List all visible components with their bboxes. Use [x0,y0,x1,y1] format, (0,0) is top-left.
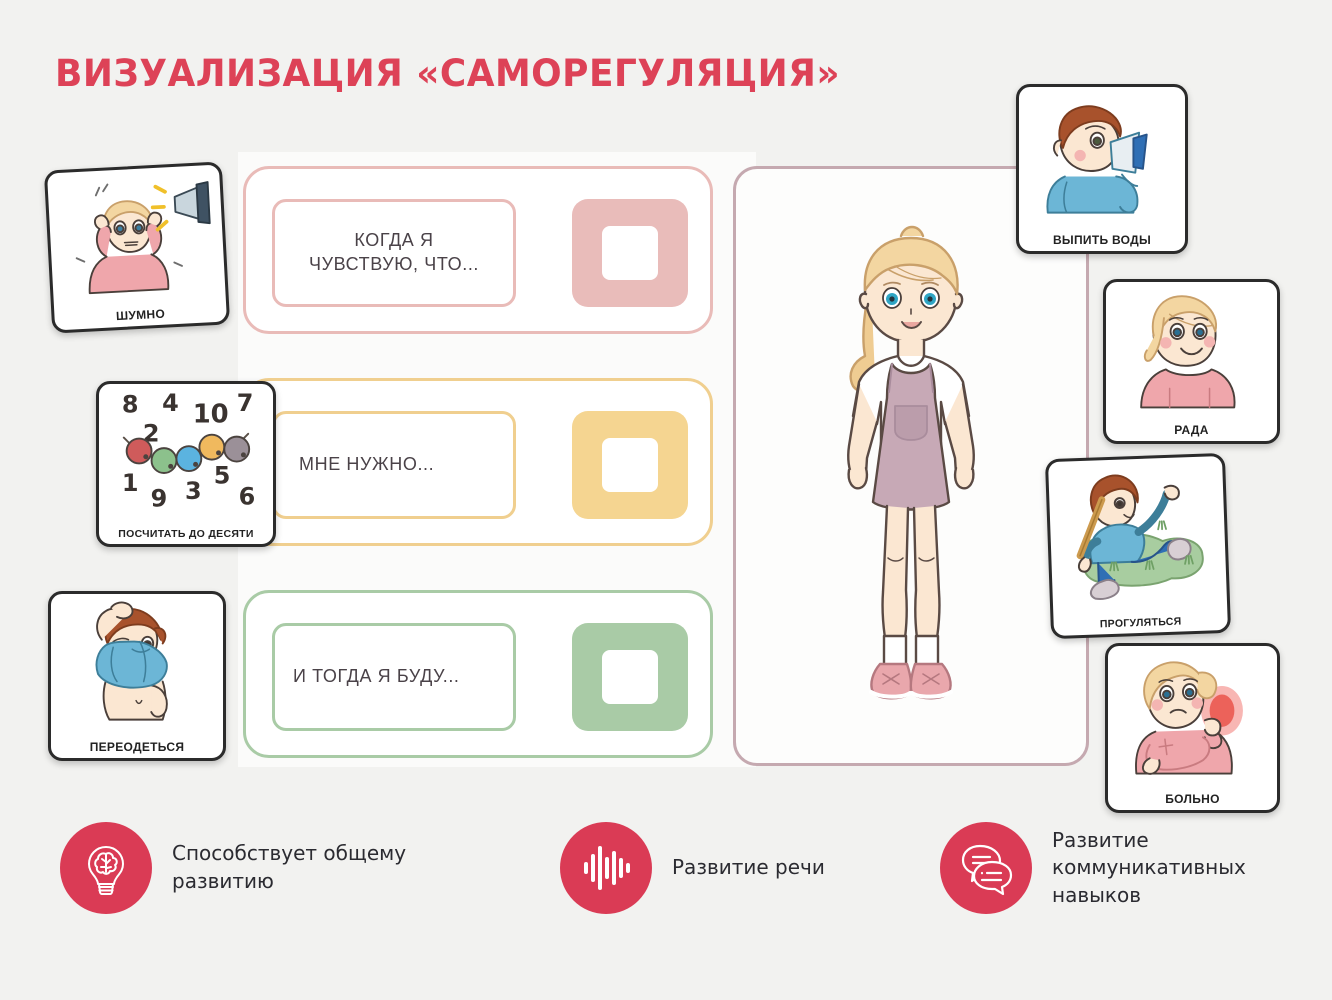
speech-bubbles-icon [940,822,1032,914]
need-slot[interactable] [572,411,688,519]
card-caption-pain: БОЛЬНО [1108,792,1277,806]
card-caption-walk: ПРОГУЛЯТЬСЯ [1054,614,1228,632]
svg-text:4: 4 [162,389,179,417]
page-title: ВИЗУАЛИЗАЦИЯ «САМОРЕГУЛЯЦИЯ» [55,52,840,95]
result-slot[interactable] [572,623,688,731]
need-slot-inner [602,438,658,492]
pictogram-card-pain[interactable]: БОЛЬНО [1105,643,1280,813]
boy-changing-shirt-icon [51,594,223,732]
card-caption-noise: ШУМНО [54,303,226,326]
svg-text:9: 9 [151,485,168,513]
feeling-slot[interactable] [572,199,688,307]
lightbulb-brain-icon [60,822,152,914]
pictogram-card-noise[interactable]: ШУМНО [44,161,230,333]
pictogram-card-change-clothes[interactable]: ПЕРЕОДЕТЬСЯ [48,591,226,761]
child-figure-panel [733,166,1089,766]
result-slot-inner [602,650,658,704]
row-label-need-text: МНЕ НУЖНО... [299,453,434,477]
svg-text:5: 5 [214,462,231,490]
poster-canvas: ВИЗУАЛИЗАЦИЯ «САМОРЕГУЛЯЦИЯ» КОГДА Я ЧУВ… [0,0,1332,1000]
benefit-text-communication-skills: Развитие коммуникативных навыков [1052,827,1302,910]
row-label-result: И ТОГДА Я БУДУ... [272,623,516,731]
card-caption-change-clothes: ПЕРЕОДЕТЬСЯ [51,740,223,754]
pictogram-card-glad[interactable]: РАДА [1103,279,1280,444]
pictogram-card-walk[interactable]: ПРОГУЛЯТЬСЯ [1045,453,1231,639]
benefit-text-speech-development: Развитие речи [672,854,825,882]
row-label-line1: КОГДА Я [354,230,433,250]
card-caption-count: ПОСЧИТАТЬ ДО ДЕСЯТИ [99,528,273,540]
svg-text:7: 7 [237,389,254,417]
girl-covering-ears-loudspeaker-icon [47,165,226,305]
benefit-general-development: Способствует общему развитию [60,822,422,914]
feeling-slot-inner [602,226,658,280]
row-label-feeling: КОГДА Я ЧУВСТВУЮ, ЧТО... [272,199,516,307]
sound-wave-icon [560,822,652,914]
benefit-speech-development: Развитие речи [560,822,825,914]
svg-text:8: 8 [122,391,139,419]
girl-figure-illustration [761,206,1061,726]
girl-holding-sore-shoulder-icon [1108,646,1277,784]
card-caption-glad: РАДА [1106,423,1277,437]
benefit-text-general-development: Способствует общему развитию [172,840,422,895]
svg-text:3: 3 [185,477,202,505]
sentence-row-feeling[interactable]: КОГДА Я ЧУВСТВУЮ, ЧТО... [243,166,713,334]
sentence-row-need[interactable]: МНЕ НУЖНО... [243,378,713,546]
card-caption-drink-water: ВЫПИТЬ ВОДЫ [1019,233,1185,247]
row-label-result-text: И ТОГДА Я БУДУ... [293,665,460,689]
pictogram-card-drink-water[interactable]: ВЫПИТЬ ВОДЫ [1016,84,1188,254]
smiling-girl-portrait-icon [1106,282,1277,415]
row-label-line2: ЧУВСТВУЮ, ЧТО... [309,254,479,274]
counting-beads-numbers-icon: 8 4 10 7 2 1 9 3 5 6 [99,384,273,518]
sentence-row-result[interactable]: И ТОГДА Я БУДУ... [243,590,713,758]
pictogram-card-count[interactable]: 8 4 10 7 2 1 9 3 5 6 [96,381,276,547]
svg-text:10: 10 [193,399,229,429]
row-label-need: МНЕ НУЖНО... [272,411,516,519]
svg-text:6: 6 [239,483,256,511]
benefit-communication-skills: Развитие коммуникативных навыков [940,822,1302,914]
boy-drinking-water-icon [1019,87,1185,225]
svg-text:1: 1 [122,469,139,497]
boy-walking-outdoors-icon [1048,456,1227,610]
